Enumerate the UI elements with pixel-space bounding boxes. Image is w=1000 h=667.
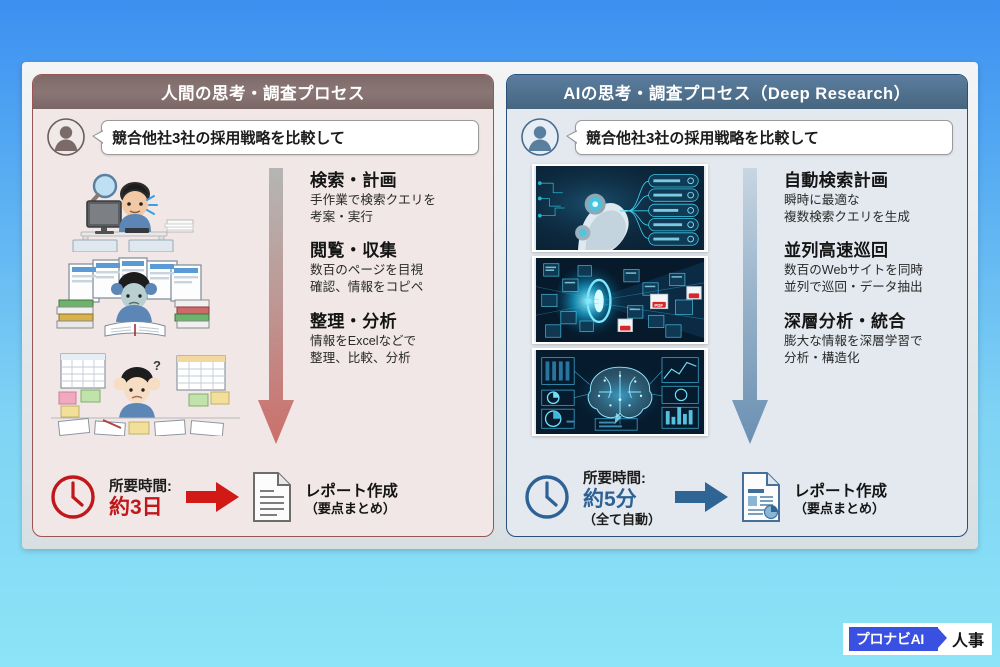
step-desc-line2: 考案・実行 — [310, 209, 483, 226]
svg-text:?: ? — [153, 358, 161, 373]
report-document-icon — [739, 471, 783, 528]
panel-ai-process: AIの思考・調査プロセス（Deep Research） 競合他社3社の採用戦略を… — [506, 74, 968, 537]
step-desc-line1: 膨大な情報を深層学習で — [784, 333, 957, 350]
panel-human-header: 人間の思考・調査プロセス — [33, 75, 493, 109]
brand-logo: プロナビAI 人事 — [843, 623, 992, 655]
step-desc-line1: 数百のページを目視 — [310, 262, 483, 279]
step-item: 並列高速巡回 数百のWebサイトを同時 並列で巡回・データ抽出 — [784, 236, 957, 295]
human-body: ? — [33, 156, 493, 441]
clock-icon — [49, 473, 97, 526]
illustration-person-at-computer — [43, 164, 248, 252]
step-title: 整理・分析 — [310, 307, 483, 332]
clock-icon — [523, 473, 571, 526]
step-item: 自動検索計画 瞬時に最適な 複数検索クエリを生成 — [784, 166, 957, 225]
step-item: 閲覧・収集 数百のページを目視 確認、情報をコピペ — [310, 236, 483, 295]
user-avatar — [47, 118, 85, 156]
ai-report-text: レポート作成 （要点まとめ） — [794, 483, 887, 517]
step-item: 検索・計画 手作業で検索クエリを 考案・実行 — [310, 166, 483, 225]
time-label: 所要時間: — [109, 479, 172, 496]
step-desc-line1: 手作業で検索クエリを — [310, 192, 483, 209]
human-time-block: 所要時間: 約3日 — [109, 479, 172, 520]
ai-time-block: 所要時間: 約5分 （全て自動） — [583, 471, 661, 527]
image-data-tunnel-file-pdf-icons: PDF — [532, 256, 708, 344]
step-title: 深層分析・統合 — [784, 307, 957, 332]
human-prompt-bubble: 競合他社3社の採用戦略を比較して — [101, 120, 479, 155]
step-desc-line1: 数百のWebサイトを同時 — [784, 262, 957, 279]
step-item: 深層分析・統合 膨大な情報を深層学習で 分析・構造化 — [784, 307, 957, 366]
user-avatar — [521, 118, 559, 156]
time-sub: （全て自動） — [583, 512, 661, 528]
svg-text:PDF: PDF — [654, 303, 663, 308]
logo-tail-text: 人事 — [952, 627, 984, 651]
step-title: 並列高速巡回 — [784, 236, 957, 261]
step-desc-line2: 並列で巡回・データ抽出 — [784, 279, 957, 296]
human-report-text: レポート作成 （要点まとめ） — [305, 483, 398, 517]
illustration-overwhelmed-by-documents — [43, 256, 248, 344]
human-footer: 所要時間: 約3日 レポ — [33, 471, 493, 528]
ai-footer: 所要時間: 約5分 （全て自動） — [507, 471, 967, 528]
time-label: 所要時間: — [583, 471, 661, 488]
report-sub: （要点まとめ） — [794, 501, 887, 517]
infographic-canvas: 人間の思考・調査プロセス 競合他社3社の採用戦略を比較して — [22, 62, 978, 549]
report-title: レポート作成 — [794, 483, 887, 501]
step-item: 整理・分析 情報をExcelなどで 整理、比較、分析 — [310, 307, 483, 366]
report-sub: （要点まとめ） — [305, 501, 398, 517]
step-desc-line2: 複数検索クエリを生成 — [784, 209, 957, 226]
step-title: 閲覧・収集 — [310, 236, 483, 261]
step-title: 自動検索計画 — [784, 166, 957, 191]
result-arrow-icon — [186, 480, 240, 519]
ai-illustrations: PDF — [517, 162, 722, 441]
ai-body: PDF — [507, 156, 967, 441]
report-document-icon — [250, 471, 294, 528]
time-value: 約5分 — [583, 488, 661, 512]
result-arrow-icon — [675, 480, 729, 519]
human-illustrations: ? — [43, 162, 248, 441]
step-desc-line2: 確認、情報をコピペ — [310, 279, 483, 296]
step-desc-line2: 整理、比較、分析 — [310, 350, 483, 367]
ai-steps: 自動検索計画 瞬時に最適な 複数検索クエリを生成 並列高速巡回 数百のWebサイ… — [778, 162, 957, 441]
human-steps: 検索・計画 手作業で検索クエリを 考案・実行 閲覧・収集 数百のページを目視 確… — [304, 162, 483, 441]
human-prompt-row: 競合他社3社の採用戦略を比較して — [33, 109, 493, 156]
time-value: 約3日 — [109, 496, 172, 520]
report-title: レポート作成 — [305, 483, 398, 501]
human-progress-arrow — [248, 162, 304, 441]
ai-progress-arrow — [722, 162, 778, 441]
image-glowing-brain-analytics-dashboard — [532, 348, 708, 436]
step-desc-line2: 分析・構造化 — [784, 350, 957, 367]
step-title: 検索・計画 — [310, 166, 483, 191]
logo-badge-text: プロナビAI — [849, 627, 938, 651]
ai-prompt-row: 競合他社3社の採用戦略を比較して — [507, 109, 967, 156]
step-desc-line1: 情報をExcelなどで — [310, 333, 483, 350]
image-ai-robot-head-branching-queries — [532, 164, 708, 252]
ai-prompt-bubble: 競合他社3社の採用戦略を比較して — [575, 120, 953, 155]
illustration-confused-with-spreadsheets: ? — [43, 348, 248, 436]
panel-ai-header: AIの思考・調査プロセス（Deep Research） — [507, 75, 967, 109]
panel-human-process: 人間の思考・調査プロセス 競合他社3社の採用戦略を比較して — [32, 74, 494, 537]
step-desc-line1: 瞬時に最適な — [784, 192, 957, 209]
